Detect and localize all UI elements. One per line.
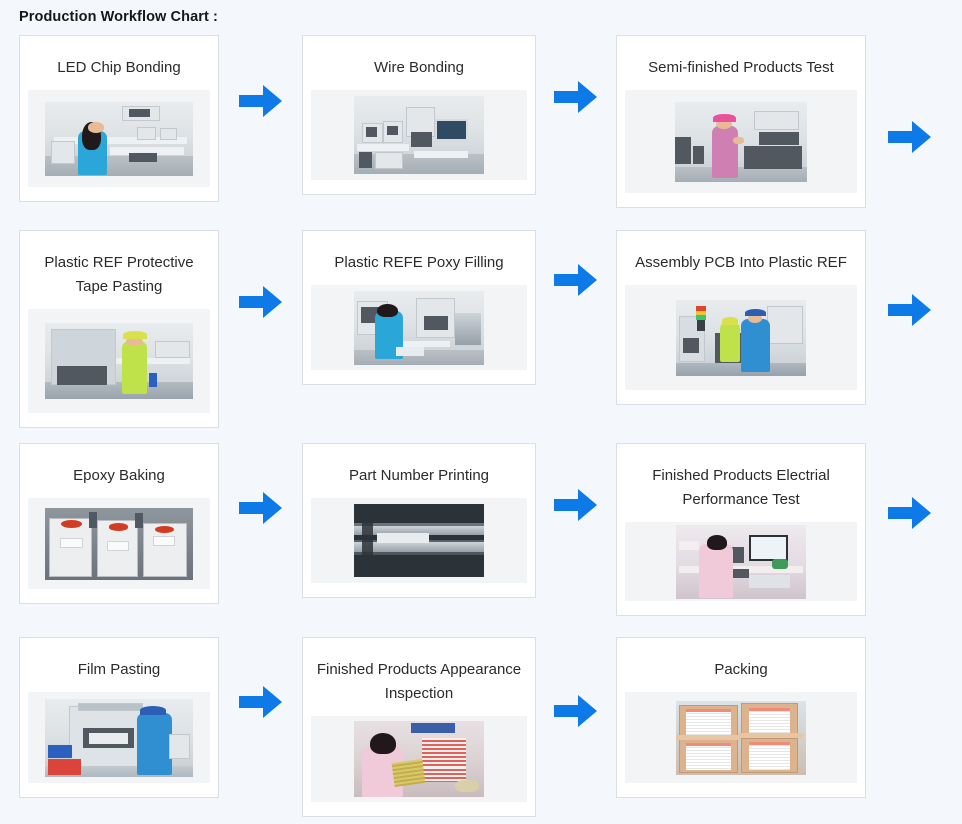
step-image-finished-products-electrial-performance-test [676, 525, 806, 599]
workflow-row: Plastic REF Protective Tape Pasting [0, 230, 962, 443]
step-image-band [625, 285, 857, 390]
workflow-row: Film Pasting [0, 637, 962, 824]
step-label: LED Chip Bonding [28, 46, 210, 80]
step-card-semi-finished-products-test[interactable]: Semi-finished Products Test [616, 35, 866, 208]
step-image-band [311, 285, 527, 370]
flow-arrow [219, 35, 302, 202]
flow-arrow-trailing [884, 496, 962, 530]
step-label: Packing [625, 648, 857, 682]
flow-arrow [536, 230, 616, 385]
flow-arrow-trailing [884, 120, 962, 154]
step-label: Plastic REFE Poxy Filling [311, 241, 527, 275]
step-image-assembly-pcb-into-plastic-ref [676, 300, 806, 376]
arrow-right-icon [884, 496, 936, 530]
flow-arrow [536, 443, 616, 598]
arrow-right-icon [239, 491, 283, 525]
step-card-plastic-refe-poxy-filling[interactable]: Plastic REFE Poxy Filling [302, 230, 536, 385]
step-card-plastic-ref-protective-tape-pasting[interactable]: Plastic REF Protective Tape Pasting [19, 230, 219, 428]
step-label: Assembly PCB Into Plastic REF [625, 241, 857, 275]
step-image-epoxy-baking [45, 508, 193, 580]
step-image-band [28, 90, 210, 187]
arrow-right-icon [239, 685, 283, 719]
step-card-epoxy-baking[interactable]: Epoxy Baking [19, 443, 219, 604]
arrow-right-icon [554, 488, 598, 522]
workflow-page: Production Workflow Chart : LED Chip Bon… [0, 0, 962, 824]
step-card-part-number-printing[interactable]: Part Number Printing [302, 443, 536, 598]
flow-arrow [219, 443, 302, 604]
step-label: Plastic REF Protective Tape Pasting [28, 241, 210, 299]
step-card-packing[interactable]: Packing [616, 637, 866, 798]
step-image-led-chip-bonding [45, 102, 193, 176]
flow-arrow [219, 637, 302, 798]
arrow-right-icon [239, 285, 283, 319]
workflow-cell: Wire Bonding [302, 35, 616, 195]
workflow-cell: Film Pasting [0, 637, 302, 798]
workflow-cell: Packing [616, 637, 943, 798]
workflow-cell: Finished Products Appearance Inspection [302, 637, 616, 817]
step-image-band [28, 309, 210, 413]
step-image-plastic-ref-protective-tape-pasting [45, 323, 193, 399]
step-image-part-number-printing [354, 504, 484, 577]
step-label: Semi-finished Products Test [625, 46, 857, 80]
step-image-band [311, 716, 527, 802]
workflow-cell: Plastic REF Protective Tape Pasting [0, 230, 302, 428]
step-image-packing [676, 701, 806, 775]
step-card-wire-bonding[interactable]: Wire Bonding [302, 35, 536, 195]
page-title: Production Workflow Chart : [0, 0, 962, 27]
step-card-film-pasting[interactable]: Film Pasting [19, 637, 219, 798]
flow-arrow [536, 637, 616, 817]
flow-arrow [536, 35, 616, 195]
workflow-row: LED Chip Bonding [0, 35, 962, 230]
step-label: Wire Bonding [311, 46, 527, 80]
workflow-flow: LED Chip Bonding [0, 27, 962, 824]
step-image-plastic-refe-poxy-filling [354, 291, 484, 365]
workflow-cell: Plastic REFE Poxy Filling [302, 230, 616, 385]
arrow-right-icon [884, 120, 936, 154]
flow-arrow [219, 230, 302, 428]
step-image-band [625, 692, 857, 783]
step-card-assembly-pcb-into-plastic-ref[interactable]: Assembly PCB Into Plastic REF [616, 230, 866, 405]
workflow-cell: Epoxy Baking [0, 443, 302, 604]
step-image-wire-bonding [354, 96, 484, 174]
step-image-band [311, 90, 527, 180]
step-card-finished-products-appearance-inspection[interactable]: Finished Products Appearance Inspection [302, 637, 536, 817]
step-label: Finished Products Appearance Inspection [311, 648, 527, 706]
step-card-finished-products-electrial-performance-test[interactable]: Finished Products Electrial Performance … [616, 443, 866, 616]
step-label: Finished Products Electrial Performance … [625, 454, 857, 512]
step-image-semi-finished-products-test [675, 102, 807, 182]
flow-arrow-trailing [884, 293, 962, 327]
step-label: Epoxy Baking [28, 454, 210, 488]
workflow-cell: LED Chip Bonding [0, 35, 302, 202]
workflow-cell: Part Number Printing [302, 443, 616, 598]
step-card-led-chip-bonding[interactable]: LED Chip Bonding [19, 35, 219, 202]
arrow-right-icon [554, 263, 598, 297]
step-label: Part Number Printing [311, 454, 527, 488]
arrow-right-icon [884, 293, 936, 327]
arrow-right-icon [239, 84, 283, 118]
step-image-film-pasting [45, 699, 193, 777]
step-image-finished-products-appearance-inspection [354, 721, 484, 797]
step-image-band [28, 692, 210, 783]
step-image-band [625, 90, 857, 193]
step-label: Film Pasting [28, 648, 210, 682]
arrow-right-icon [554, 694, 598, 728]
step-image-band [311, 498, 527, 583]
step-image-band [28, 498, 210, 589]
workflow-row: Epoxy Baking [0, 443, 962, 637]
step-image-band [625, 522, 857, 601]
arrow-right-icon [554, 80, 598, 114]
